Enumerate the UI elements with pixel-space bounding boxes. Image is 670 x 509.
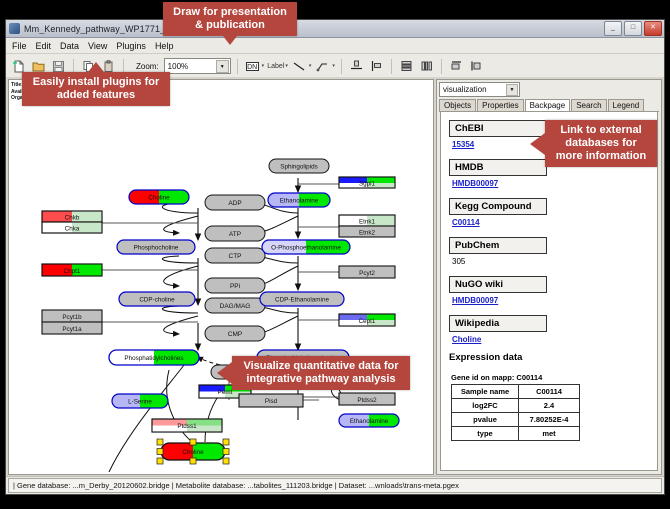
callout-draw-tail	[223, 36, 237, 45]
svg-text:Ptdss2: Ptdss2	[357, 397, 377, 404]
svg-text:Choline: Choline	[182, 449, 204, 456]
table-row: type met	[452, 427, 580, 441]
expr-value-sample-name: C00114	[519, 385, 580, 399]
expr-key-type: type	[452, 427, 519, 441]
close-button[interactable]: ✕	[644, 21, 662, 36]
cofactor-node-adp: ADP	[205, 195, 265, 210]
gene-node-chkb: Chkb	[42, 211, 102, 222]
gene-node-cept1: Cept1	[339, 314, 395, 326]
side-pane-tabs: Objects Properties Backpage Search Legen…	[439, 98, 659, 112]
datanode-tool[interactable]: DN ▾	[244, 58, 265, 75]
callout-visualize-text: Visualize quantitative data forintegrati…	[232, 356, 410, 390]
metabolite-node-phosphatidylcholines: Phosphatidylcholines	[109, 350, 199, 365]
svg-text:Pemt: Pemt	[218, 389, 233, 396]
svg-text:Ethanolamine: Ethanolamine	[350, 418, 389, 425]
chevron-down-icon-label[interactable]: ▾	[285, 63, 288, 69]
table-row: Sample name C00114	[452, 385, 580, 399]
svg-text:CMP: CMP	[228, 331, 242, 338]
chevron-down-icon-line[interactable]: ▾	[309, 63, 312, 69]
gene-node-ptdss1: Ptdss1	[152, 419, 222, 432]
chevron-down-icon-interaction[interactable]: ▾	[332, 63, 335, 69]
minimize-button[interactable]: _	[604, 21, 622, 36]
db-header-nugo-wiki: NuGO wiki	[449, 276, 547, 293]
gene-node-pcyt2: Pcyt2	[339, 266, 395, 278]
svg-text:Chpt1: Chpt1	[64, 268, 81, 275]
svg-text:Chka: Chka	[65, 226, 80, 233]
metabolite-node-ethanolamine-top: Ethanolamine	[268, 193, 330, 207]
toolbar-separator-6	[441, 59, 442, 74]
callout-links-text: Link to externaldatabases formore inform…	[545, 120, 657, 167]
callout-plugins: Easily install plugins foradded features	[22, 72, 170, 106]
svg-text:Chkb: Chkb	[65, 215, 80, 222]
callout-plugins-tail	[88, 62, 104, 72]
menu-item-data[interactable]: Data	[60, 41, 79, 51]
visualization-dropdown-value: visualization	[443, 85, 487, 94]
order-back-icon[interactable]	[468, 58, 485, 75]
menu-bar: File Edit Data View Plugins Help	[6, 38, 664, 54]
cofactor-node-ctp: CTP	[205, 248, 265, 263]
svg-text:Etnk2: Etnk2	[359, 230, 376, 237]
metabolite-node-o-phosphoethanolamine: O-Phosphoethanolamine	[262, 240, 350, 254]
metabolite-node-cdp-ethanolamine: CDP-Ethanolamine	[260, 292, 344, 306]
stack-icon[interactable]	[398, 58, 415, 75]
line-tool[interactable]: ▾	[291, 58, 312, 75]
gene-node-pcyt1b: Pcyt1b	[42, 310, 102, 322]
status-bar-text: | Gene database: ...m_Derby_20120602.bri…	[8, 478, 662, 493]
callout-plugins-text: Easily install plugins foradded features	[22, 72, 170, 106]
svg-text:Etnk1: Etnk1	[359, 219, 376, 226]
svg-text:Pcyt1a: Pcyt1a	[62, 326, 82, 333]
screen: Mm_Kennedy_pathway_WP1771_45176.gpml _ □…	[0, 0, 670, 509]
toolbar-separator-3	[237, 59, 238, 74]
app-icon	[9, 23, 20, 34]
db-link-kegg-compound[interactable]: C00114	[452, 218, 657, 227]
gene-node-etnk1: Etnk1	[339, 215, 395, 226]
gene-node-chka: Chka	[42, 222, 102, 233]
align-left-icon[interactable]	[368, 58, 385, 75]
svg-text:Ethanolamine: Ethanolamine	[280, 198, 319, 205]
svg-text:PPi: PPi	[230, 283, 240, 290]
title-bar: Mm_Kennedy_pathway_WP1771_45176.gpml _ □…	[6, 20, 664, 38]
cofactor-node-dagmag: DAG/MAG	[205, 298, 265, 313]
menu-item-help[interactable]: Help	[155, 41, 174, 51]
datanode-icon[interactable]: DN	[244, 58, 261, 75]
callout-links: Link to externaldatabases formore inform…	[545, 120, 657, 167]
svg-text:ADP: ADP	[228, 200, 241, 207]
gene-node-chpt1: Chpt1	[42, 264, 102, 276]
gene-node-etnk2: Etnk2	[339, 226, 395, 237]
cofactor-node-cmp: CMP	[205, 326, 265, 341]
label-tool[interactable]: Label ▾	[267, 63, 288, 70]
tab-search[interactable]: Search	[571, 99, 606, 111]
menu-item-view[interactable]: View	[88, 41, 107, 51]
line-icon[interactable]	[291, 58, 308, 75]
callout-links-arrow	[530, 133, 545, 155]
expr-key-pvalue: pvalue	[452, 413, 519, 427]
table-row: pvalue 7.80252E-4	[452, 413, 580, 427]
svg-text:Pisd: Pisd	[265, 398, 278, 405]
db-value-pubchem: 305	[452, 257, 657, 266]
chevron-down-icon-visualization[interactable]: ▼	[506, 84, 518, 96]
svg-text:CDP-choline: CDP-choline	[139, 297, 175, 304]
svg-text:O-Phosphoethanolamine: O-Phosphoethanolamine	[271, 245, 341, 252]
svg-text:Phosphatidylcholines: Phosphatidylcholines	[124, 355, 183, 362]
metabolite-node-choline-selected: Choline	[157, 439, 229, 464]
chevron-down-icon-datanode[interactable]: ▾	[262, 63, 265, 69]
tab-objects[interactable]: Objects	[439, 99, 476, 111]
svg-text:Pcyt1b: Pcyt1b	[62, 314, 82, 321]
db-header-kegg-compound: Kegg Compound	[449, 198, 547, 215]
status-bar: | Gene database: ...m_Derby_20120602.bri…	[6, 476, 664, 494]
svg-text:CDP-Ethanolamine: CDP-Ethanolamine	[275, 297, 329, 304]
interaction-tool[interactable]: ▾	[314, 58, 335, 75]
metabolite-node-sphingolipids: Sphingolipids	[269, 159, 329, 173]
expr-value-log2fc: 2.4	[519, 399, 580, 413]
svg-text:Choline: Choline	[148, 195, 170, 202]
toolbar-separator-4	[341, 59, 342, 74]
callout-visualize: Visualize quantitative data forintegrati…	[232, 356, 410, 390]
gene-id-line: Gene id on mapp: C00114	[451, 373, 657, 382]
callout-draw-text: Draw for presentation& publication	[163, 2, 297, 36]
svg-text:Sphingolipids: Sphingolipids	[280, 164, 317, 171]
db-link-nugo-wiki[interactable]: HMDB00097	[452, 296, 657, 305]
gene-node-pcyt1a: Pcyt1a	[42, 322, 102, 334]
pathway-diagram[interactable]: ADP ATP CTP PPi DAG/MAG	[9, 80, 433, 475]
callout-visualize-arrow	[217, 362, 232, 384]
svg-text:Ptdss1: Ptdss1	[177, 423, 197, 430]
tab-properties[interactable]: Properties	[477, 99, 523, 111]
expression-table: Sample name C00114 log2FC 2.4 pvalue 7.8…	[451, 384, 580, 441]
gene-node-ptdss2: Ptdss2	[339, 393, 395, 405]
svg-text:Pcyt2: Pcyt2	[359, 270, 375, 277]
menu-item-edit[interactable]: Edit	[36, 41, 52, 51]
metabolite-node-cdp-choline: CDP-choline	[119, 292, 195, 306]
db-header-hmdb: HMDB	[449, 159, 547, 176]
interaction-icon[interactable]	[314, 58, 331, 75]
expr-key-sample-name: Sample name	[452, 385, 519, 399]
db-header-wikipedia: Wikipedia	[449, 315, 547, 332]
expr-value-pvalue: 7.80252E-4	[519, 413, 580, 427]
cofactor-node-ppi: PPi	[205, 278, 265, 293]
db-header-pubchem: PubChem	[449, 237, 547, 254]
pathway-canvas[interactable]: Title: Availa Organ	[8, 79, 434, 475]
table-row: log2FC 2.4	[452, 399, 580, 413]
zoom-value: 100%	[168, 62, 188, 71]
expr-value-type: met	[519, 427, 580, 441]
svg-text:DAG/MAG: DAG/MAG	[220, 303, 251, 310]
svg-text:Cept1: Cept1	[359, 318, 376, 325]
order-front-icon[interactable]	[448, 58, 465, 75]
label-tool-text: Label	[267, 63, 284, 70]
gene-node-pisd: Pisd	[239, 394, 303, 407]
metabolite-node-phosphocholine: Phosphocholine	[117, 240, 195, 254]
svg-text:DN: DN	[247, 64, 257, 71]
zoom-label: Zoom:	[136, 62, 159, 71]
window-buttons: _ □ ✕	[604, 21, 662, 36]
svg-text:Phosphocholine: Phosphocholine	[134, 245, 179, 252]
menu-item-plugins[interactable]: Plugins	[116, 41, 146, 51]
metabolite-node-choline-top: Choline	[129, 190, 189, 204]
tab-legend[interactable]: Legend	[608, 99, 645, 111]
zoom-combo[interactable]: 100% ▼	[164, 58, 231, 74]
menu-item-file[interactable]: File	[12, 41, 27, 51]
align-top-icon[interactable]	[348, 58, 365, 75]
chevron-down-icon[interactable]: ▼	[216, 60, 229, 73]
svg-text:ATP: ATP	[229, 231, 241, 238]
maximize-button[interactable]: □	[624, 21, 642, 36]
distribute-icon[interactable]	[418, 58, 435, 75]
expression-data-header: Expression data	[449, 352, 657, 363]
svg-text:CTP: CTP	[229, 253, 242, 260]
db-link-hmdb[interactable]: HMDB00097	[452, 179, 657, 188]
callout-draw: Draw for presentation& publication	[163, 2, 297, 36]
toolbar-separator-5	[391, 59, 392, 74]
metabolite-node-ethanolamine-bottom: Ethanolamine	[339, 414, 399, 427]
expr-key-log2fc: log2FC	[452, 399, 519, 413]
svg-text:Sgpl1: Sgpl1	[359, 181, 376, 188]
cofactor-node-atp: ATP	[205, 226, 265, 241]
gene-node-sgpl1: Sgpl1	[339, 177, 395, 188]
svg-text:L-Serine: L-Serine	[128, 399, 152, 406]
db-link-wikipedia[interactable]: Choline	[452, 335, 657, 344]
visualization-dropdown[interactable]: visualization ▼	[439, 82, 520, 97]
metabolite-node-l-serine-left: L-Serine	[112, 394, 168, 408]
